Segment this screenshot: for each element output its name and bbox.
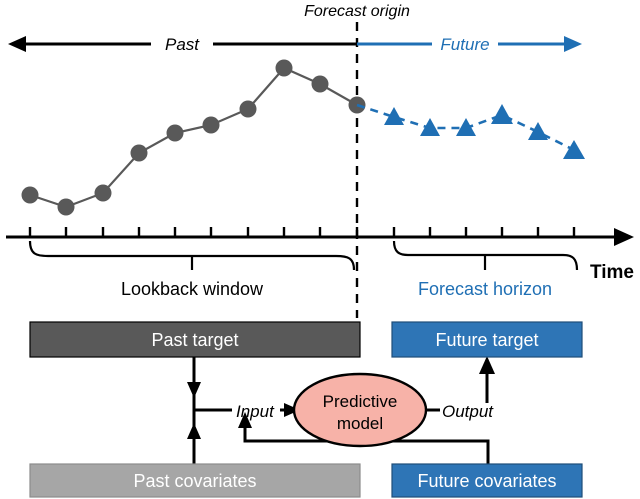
- lookback-window-label: Lookback window: [121, 279, 264, 299]
- past-covariates-box-label: Past covariates: [133, 471, 256, 491]
- future-covariates-box-label: Future covariates: [417, 471, 556, 491]
- figure-root: Forecast origin Past Future: [0, 0, 640, 499]
- past-target-markers: [22, 60, 366, 216]
- output-label: Output: [442, 402, 494, 421]
- time-axis-label: Time: [590, 262, 634, 283]
- future-target-markers: [384, 104, 585, 159]
- past-covariates-arrowhead: [187, 423, 201, 439]
- predictive-model-label-line2: model: [337, 414, 383, 433]
- output-arrowhead: [479, 356, 495, 374]
- past-target-box-label: Past target: [151, 330, 238, 350]
- past-target-arrowhead: [187, 382, 201, 398]
- past-target-line: [30, 68, 357, 207]
- future-target-box-label: Future target: [435, 330, 538, 350]
- forecast-origin-label: Forecast origin: [304, 3, 410, 20]
- past-arrow-label: Past: [165, 35, 200, 54]
- input-label: Input: [236, 402, 275, 421]
- future-arrow-label: Future: [440, 35, 489, 54]
- forecast-horizon-label: Forecast horizon: [418, 279, 552, 299]
- predictive-model-label-line1: Predictive: [323, 392, 398, 411]
